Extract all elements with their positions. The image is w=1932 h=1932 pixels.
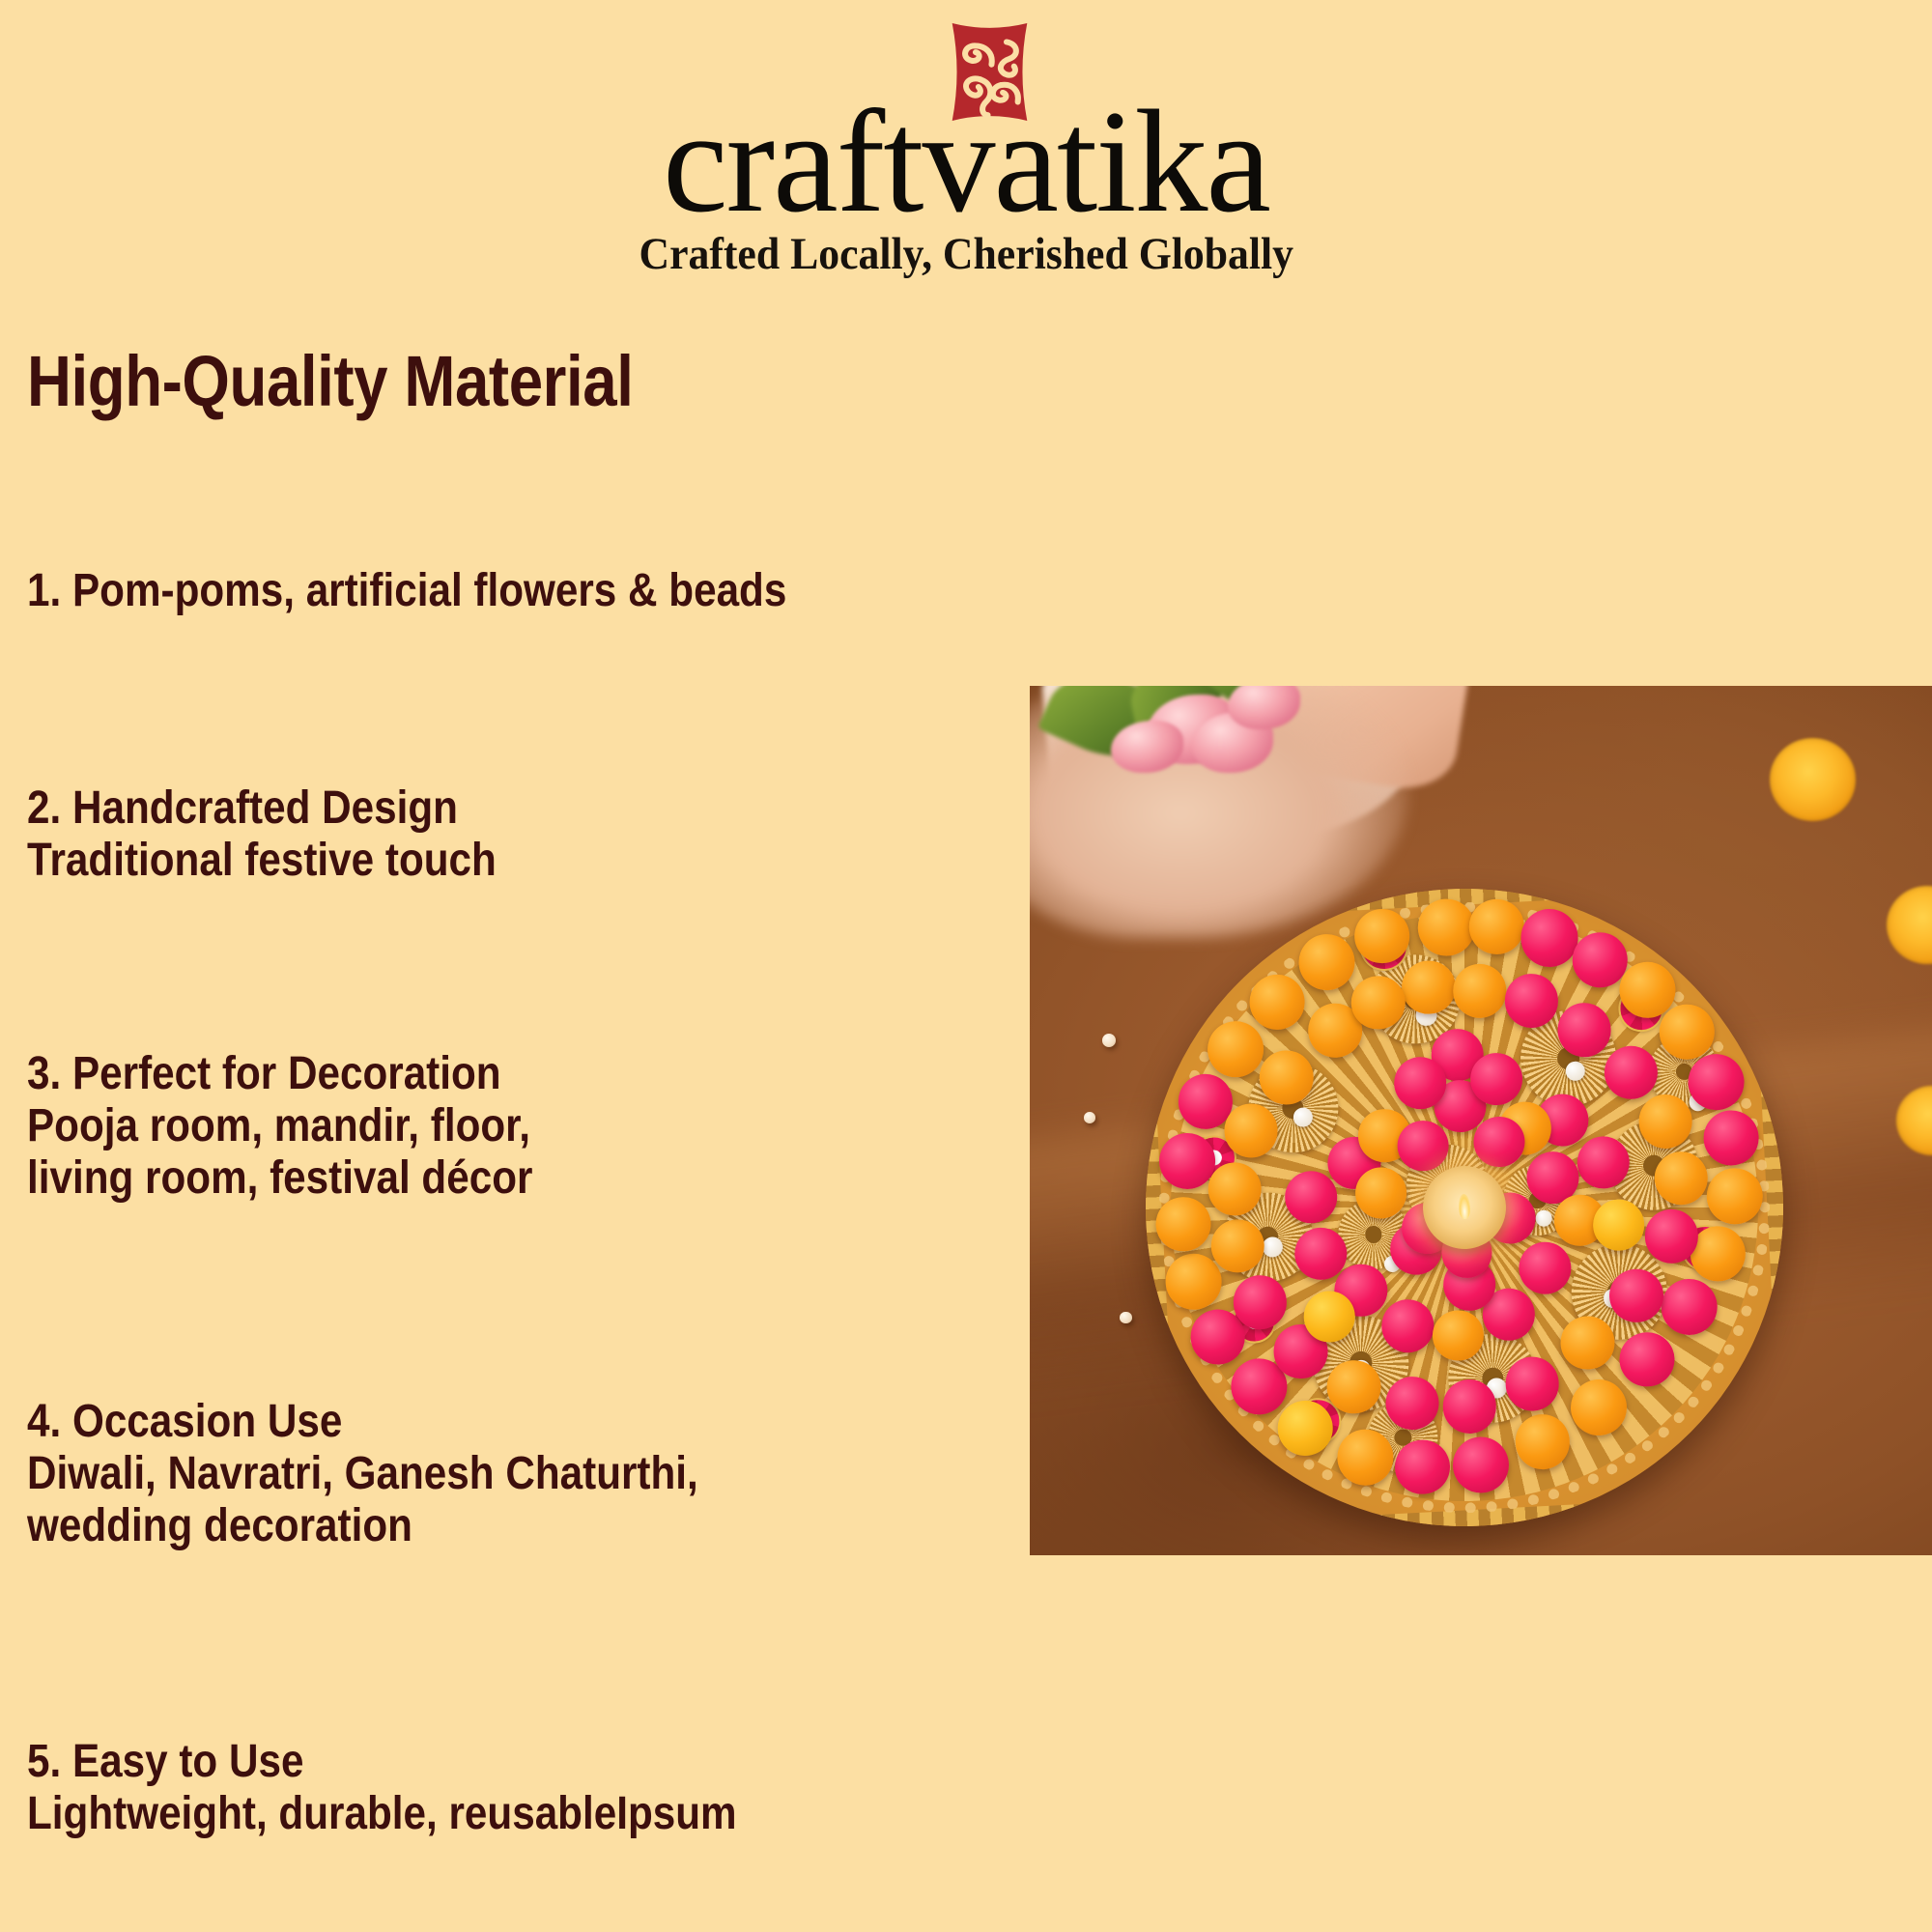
list-item: 4. Occasion Use Diwali, Navratri, Ganesh… (27, 1396, 790, 1551)
feature-subtitle-2: living room, festival décor (27, 1152, 532, 1205)
pompom-rangoli-product-photo (1030, 686, 1932, 1555)
marigold-flower (1770, 738, 1856, 821)
feature-title: 4. Occasion Use (27, 1396, 698, 1448)
mirror-dot (1535, 1209, 1552, 1227)
list-item: 2. Handcrafted Design Traditional festiv… (27, 782, 560, 887)
pearl-bead (1084, 1112, 1095, 1123)
feature-subtitle: Pooja room, mandir, floor, (27, 1100, 532, 1152)
pearl-bead (1102, 1034, 1116, 1047)
brand-logo-block: craftvatika Crafted Locally, Cherished G… (0, 17, 1932, 280)
feature-title: 3. Perfect for Decoration (27, 1048, 532, 1100)
list-item: 3. Perfect for Decoration Pooja room, ma… (27, 1048, 602, 1204)
candle-flame (1458, 1194, 1470, 1220)
craftvatika-square-swirl-emblem (943, 17, 1037, 127)
feature-title: 1. Pom-poms, artificial flowers & beads (27, 565, 786, 617)
list-item: 1. Pom-poms, artificial flowers & beads (27, 565, 891, 617)
feature-subtitle: Diwali, Navratri, Ganesh Chaturthi, (27, 1448, 698, 1500)
feature-title: 2. Handcrafted Design (27, 782, 497, 835)
pearl-bead (1120, 1312, 1131, 1323)
feature-subtitle: Traditional festive touch (27, 835, 497, 887)
feature-title: 5. Easy to Use (27, 1736, 737, 1788)
feature-subtitle-2: wedding decoration (27, 1500, 698, 1552)
list-item: 5. Easy to Use Lightweight, durable, reu… (27, 1736, 834, 1840)
feature-subtitle: Lightweight, durable, reusableIpsum (27, 1788, 737, 1840)
brand-tagline: Crafted Locally, Cherished Globally (639, 228, 1293, 280)
page-title: High-Quality Material (27, 340, 633, 422)
